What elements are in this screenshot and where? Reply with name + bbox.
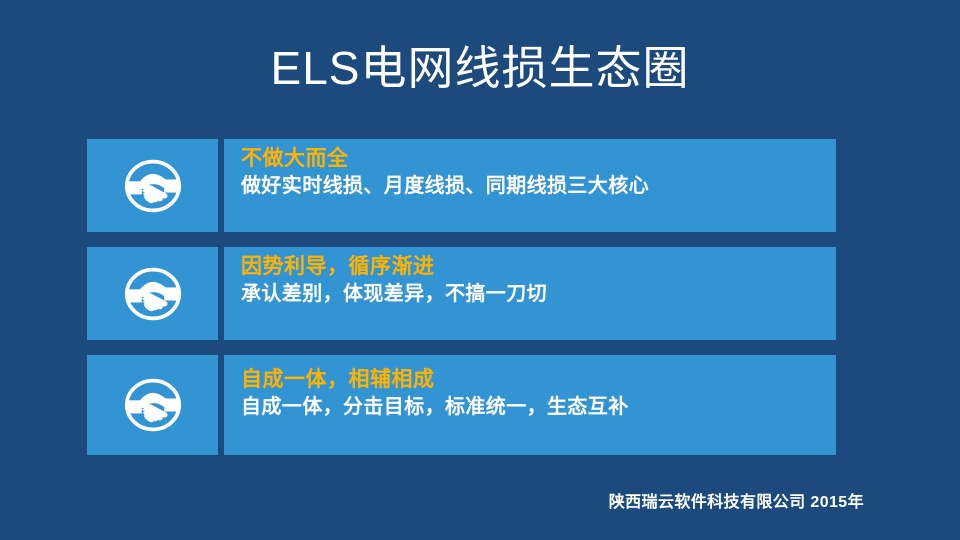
card-icon-box: [87, 247, 218, 340]
card-icon-box: [87, 139, 218, 232]
page-title: ELS电网线损生态圈: [0, 44, 960, 92]
card-icon-box: [87, 355, 218, 455]
card-subtext: 做好实时线损、月度线损、同期线损三大核心: [241, 173, 836, 199]
content-card[interactable]: 自成一体，相辅相成 自成一体，分击目标，标准统一，生态互补: [87, 355, 836, 455]
content-card[interactable]: 因势利导，循序渐进 承认差别，体现差异，不搞一刀切: [87, 247, 836, 340]
handshake-icon: [123, 376, 183, 434]
footer-company-note: 陕西瑞云软件科技有限公司 2015年: [609, 488, 864, 512]
card-subtext: 自成一体，分击目标，标准统一，生态互补: [241, 394, 836, 420]
card-text-box: 因势利导，循序渐进 承认差别，体现差异，不搞一刀切: [224, 247, 836, 340]
handshake-icon: [123, 265, 183, 323]
card-heading: 因势利导，循序渐进: [241, 254, 836, 281]
card-text-box: 不做大而全 做好实时线损、月度线损、同期线损三大核心: [224, 139, 836, 232]
handshake-icon: [123, 157, 183, 215]
card-heading: 不做大而全: [241, 146, 836, 173]
card-heading: 自成一体，相辅相成: [241, 367, 836, 394]
content-card[interactable]: 不做大而全 做好实时线损、月度线损、同期线损三大核心: [87, 139, 836, 232]
presentation-slide: ELS电网线损生态圈 不做大而全 做好实时线损、月度线损、同期线损三大核心: [0, 0, 960, 540]
card-text-box: 自成一体，相辅相成 自成一体，分击目标，标准统一，生态互补: [224, 355, 836, 455]
card-subtext: 承认差别，体现差异，不搞一刀切: [241, 281, 836, 307]
